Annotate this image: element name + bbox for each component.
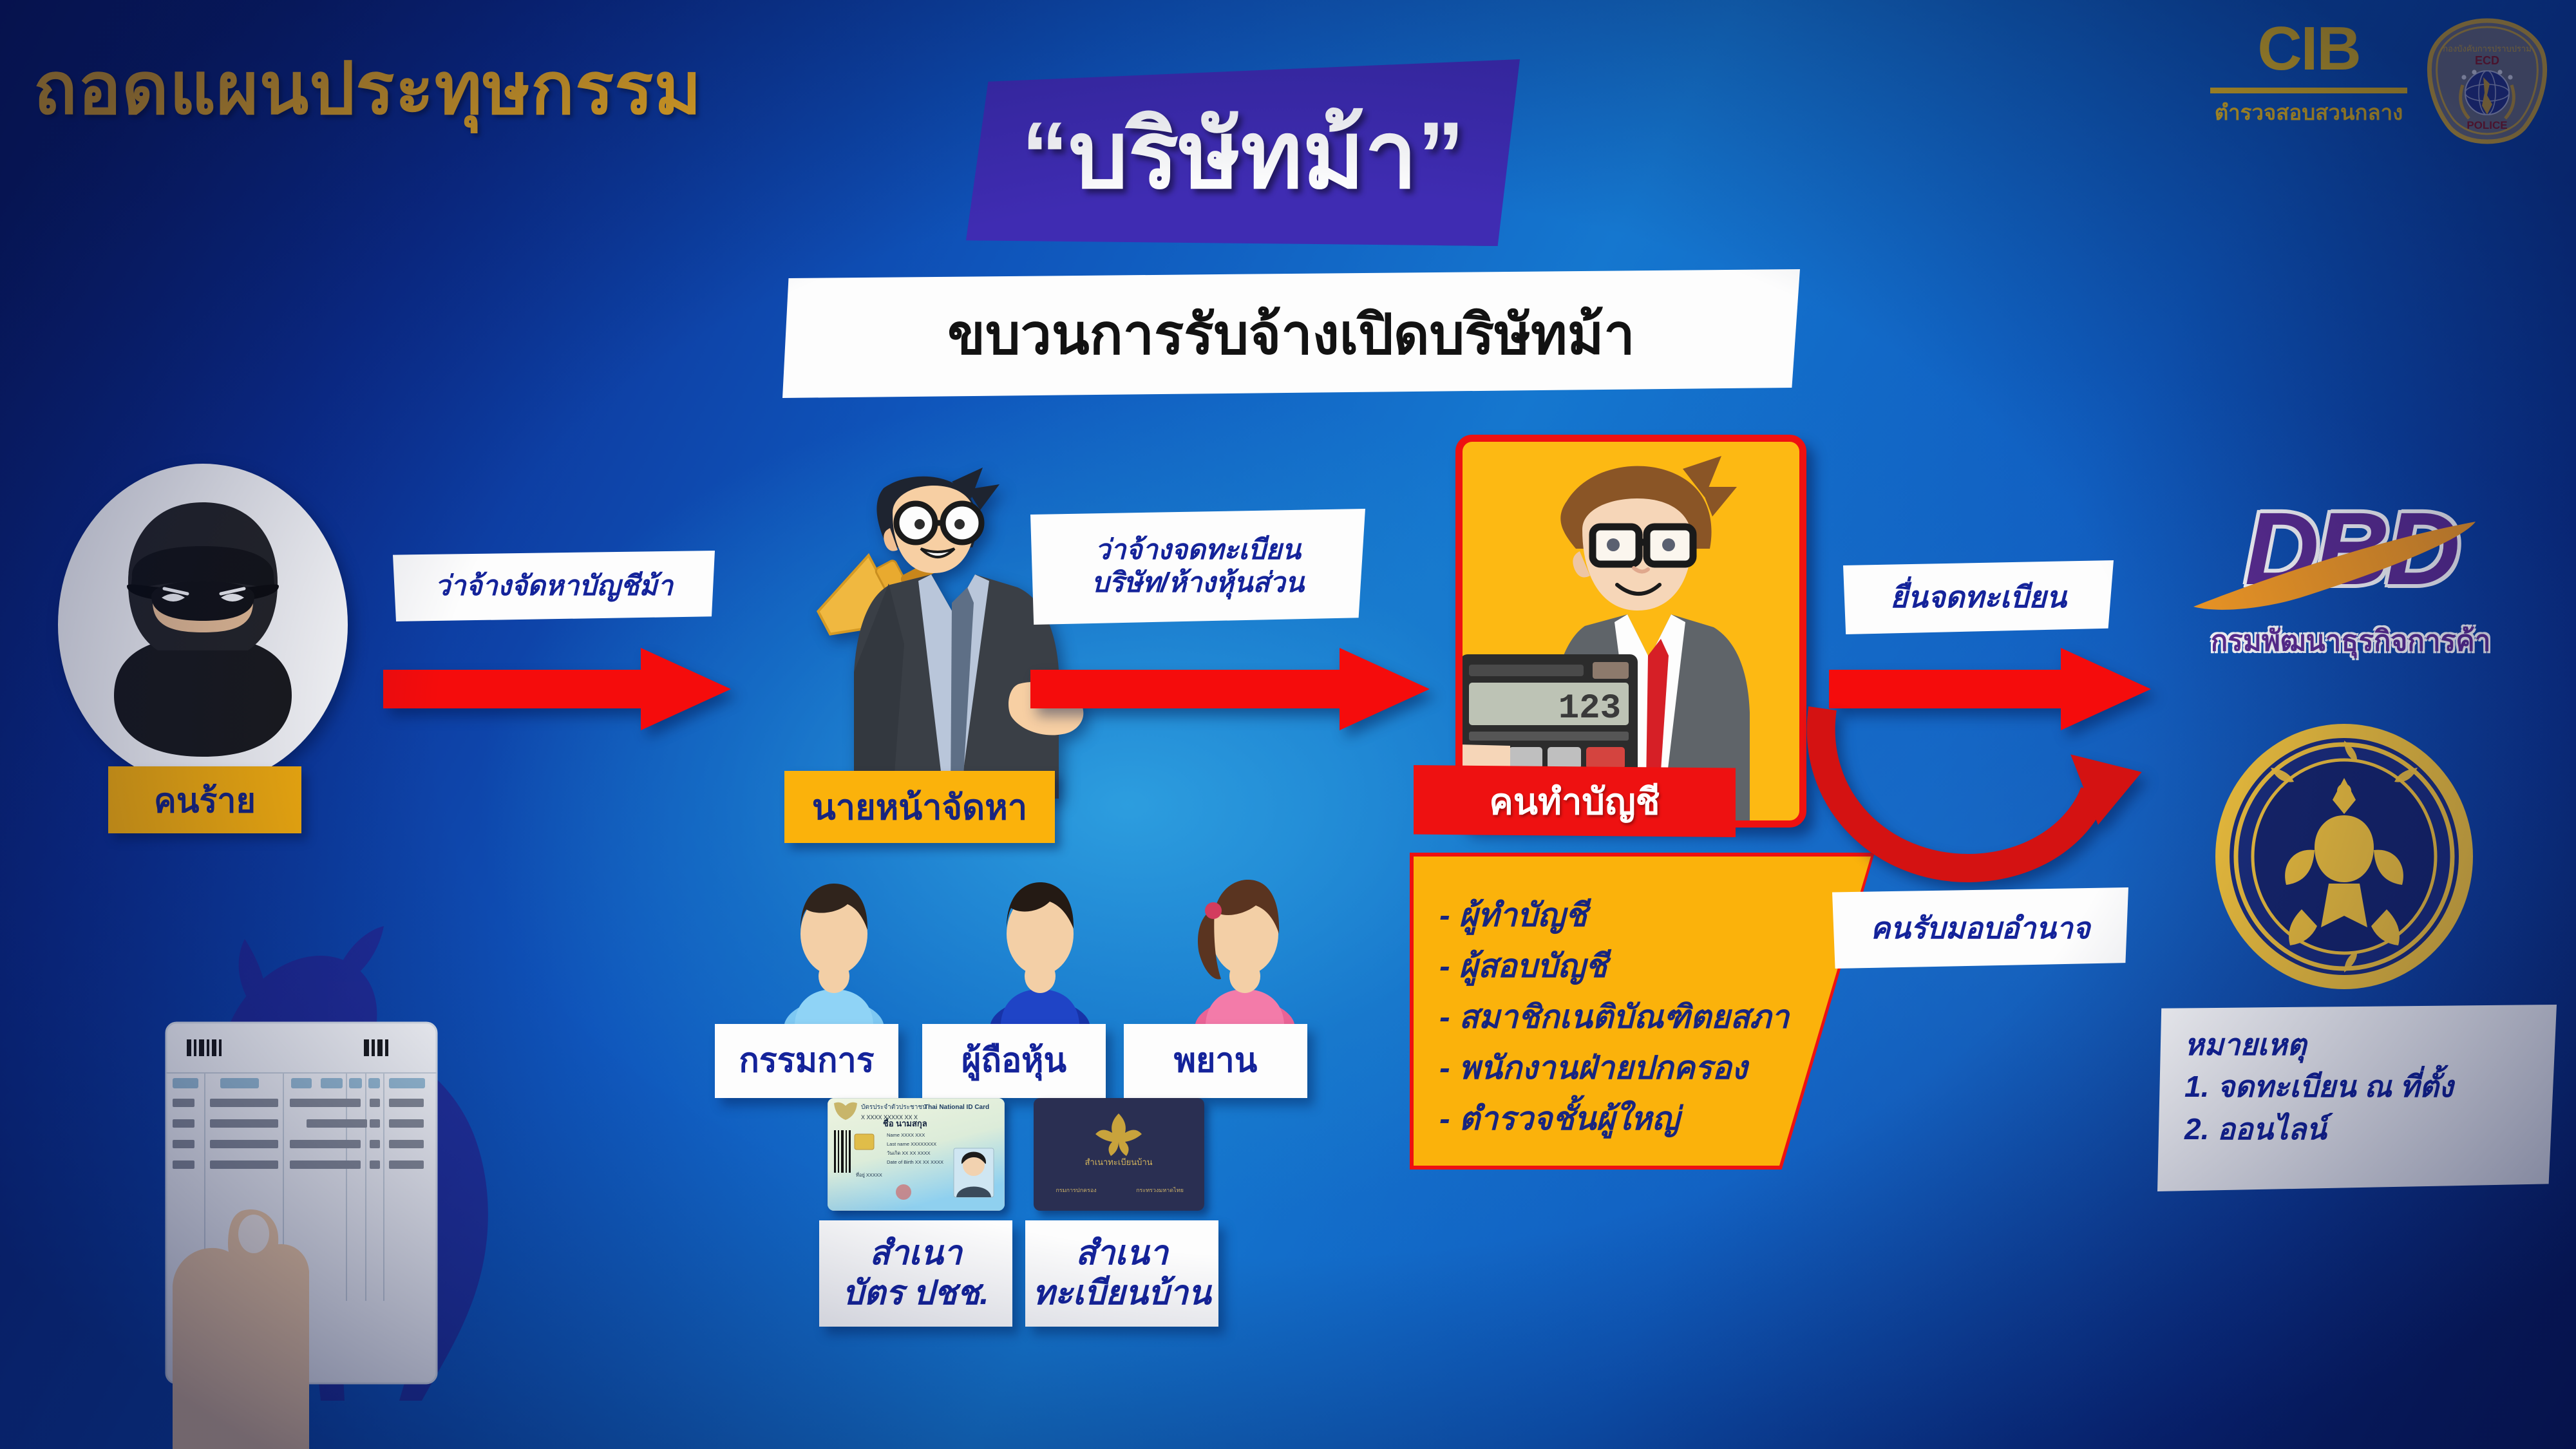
svg-text:กองบังคับการปราบปราม: กองบังคับการปราบปราม: [2443, 44, 2532, 53]
page-title: ถอดแผนประทุษกรรม: [33, 31, 702, 146]
flow-arrow-1-icon: [383, 644, 731, 734]
caption-submit-registration: ยื่นจดทะเบียน: [1843, 560, 2114, 634]
list-item: - พนักงานฝ่ายปกครอง: [1439, 1043, 1851, 1094]
dbd-swoosh-icon: [2184, 518, 2487, 614]
infographic-canvas: ถอดแผนประทุษกรรม “บริษัทม้า” ขบวนการรับจ…: [0, 0, 2576, 1449]
book-sub-left: กรมการปกครอง: [1056, 1187, 1096, 1193]
house-registration-book-icon: สำเนาทะเบียนบ้าน กรมการปกครอง กระทรวงมหา…: [1034, 1098, 1204, 1211]
notes-item: 1. จดทะเบียน ณ ที่ตั้ง: [2184, 1066, 2545, 1108]
thai-national-id-card-icon: บัตรประจำตัวประชาชน Thai National ID Car…: [828, 1098, 1005, 1211]
person-avatar-pink-female-icon: [1177, 863, 1312, 1024]
person-avatar-lightblue-icon: [766, 863, 902, 1024]
ecd-police-badge-icon: กองบังคับการปราบปราม ECD POLICE: [2427, 18, 2548, 144]
thai-government-seal-icon: [2209, 721, 2479, 992]
id-card-title-en: Thai National ID Card: [924, 1104, 989, 1111]
participant-label-witness: พยาน: [1124, 1024, 1307, 1098]
masked-criminal-avatar-icon: [55, 464, 351, 799]
id-card-field: Date of Birth XX XX XXXX: [887, 1159, 943, 1165]
svg-text:ECD: ECD: [2475, 54, 2499, 67]
person-avatar-darkblue-icon: [972, 863, 1108, 1024]
flow-return-arrow-icon: [1803, 696, 2164, 908]
document-label-id-copy: สำเนา บัตร ปชช.: [819, 1220, 1012, 1327]
subtitle-text: ขบวนการรับจ้างเปิดบริษัทม้า: [782, 269, 1800, 398]
participant-label-shareholder: ผู้ถือหุ้น: [922, 1024, 1106, 1098]
document-label-line-1: สำเนา: [869, 1234, 961, 1273]
list-item: - สมาชิกเนติบัณฑิตยสภา: [1439, 992, 1851, 1043]
cib-logo-subtitle: ตำรวจสอบสวนกลาง: [2202, 95, 2415, 129]
main-title: “บริษัทม้า”: [908, 77, 1578, 232]
cib-logo-text: CIB: [2202, 19, 2415, 79]
book-title: สำเนาทะเบียนบ้าน: [1084, 1157, 1152, 1167]
document-label-line-2: บัตร ปชช.: [842, 1274, 989, 1313]
caption-authorized-representative: คนรับมอบอำนาจ: [1832, 887, 2128, 969]
list-item: - ตำรวจชั้นผู้ใหญ่: [1439, 1094, 1851, 1144]
role-label-criminal: คนร้าย: [108, 766, 301, 833]
id-card-field: ที่อยู่ XXXXX: [856, 1171, 882, 1178]
list-item: - ผู้ทำบัญชี: [1439, 890, 1851, 941]
dbd-logo-subtitle: กรมพัฒนาธุรกิจการค้า: [2151, 618, 2550, 663]
book-sub-right: กระทรวงมหาดไทย: [1136, 1187, 1184, 1193]
role-label-accountant: คนทำบัญชี: [1414, 765, 1736, 837]
notes-item: 2. ออนไลน์: [2184, 1108, 2545, 1150]
caption-hire-find-mule-account: ว่าจ้างจัดหาบัญชีม้า: [393, 551, 715, 621]
dbd-logo: DBD กรมพัฒนาธุรกิจการค้า: [2151, 489, 2550, 657]
id-card-field: วันเกิด XX XX XXXX: [887, 1150, 931, 1156]
id-card-name: ชื่อ นามสกุล: [883, 1117, 927, 1129]
notes-content: หมายเหตุ 1. จดทะเบียน ณ ที่ตั้ง 2. ออนไล…: [2184, 1024, 2545, 1179]
cib-logo: CIB ตำรวจสอบสวนกลาง กองบังคับการปราบปราม…: [2202, 15, 2550, 144]
document-label-line-2: ทะเบียนบ้าน: [1033, 1274, 1211, 1313]
id-card-field: Last name XXXXXXXX: [887, 1141, 936, 1147]
id-card-title-th: บัตรประจำตัวประชาชน: [861, 1104, 927, 1111]
qualified-persons-list: - ผู้ทำบัญชี - ผู้สอบบัญชี - สมาชิกเนติบ…: [1439, 882, 1851, 1146]
caption-line-1: ว่าจ้างจดทะเบียน: [1095, 534, 1301, 567]
document-label-house-registration-copy: สำเนา ทะเบียนบ้าน: [1025, 1220, 1218, 1327]
notes-title: หมายเหตุ: [2184, 1024, 2545, 1066]
participant-label-director: กรรมการ: [715, 1024, 898, 1098]
document-label-line-1: สำเนา: [1075, 1234, 1168, 1273]
cib-logo-rule: [2210, 88, 2407, 93]
hand-holding-bank-passbook-icon: [90, 1018, 502, 1449]
role-label-broker: นายหน้าจัดหา: [784, 771, 1055, 843]
calculator-display: 123: [1558, 689, 1621, 728]
caption-hire-register-company: ว่าจ้างจดทะเบียน บริษัท/ห้างหุ้นส่วน: [1030, 509, 1365, 625]
svg-text:POLICE: POLICE: [2467, 119, 2507, 131]
flow-arrow-2-icon: [1030, 644, 1430, 734]
caption-line-2: บริษัท/ห้างหุ้นส่วน: [1092, 567, 1304, 600]
list-item: - ผู้สอบบัญชี: [1439, 941, 1851, 992]
broker-with-megaphone-icon: [741, 451, 1101, 799]
id-card-field: Name XXXX XXX: [887, 1132, 925, 1138]
